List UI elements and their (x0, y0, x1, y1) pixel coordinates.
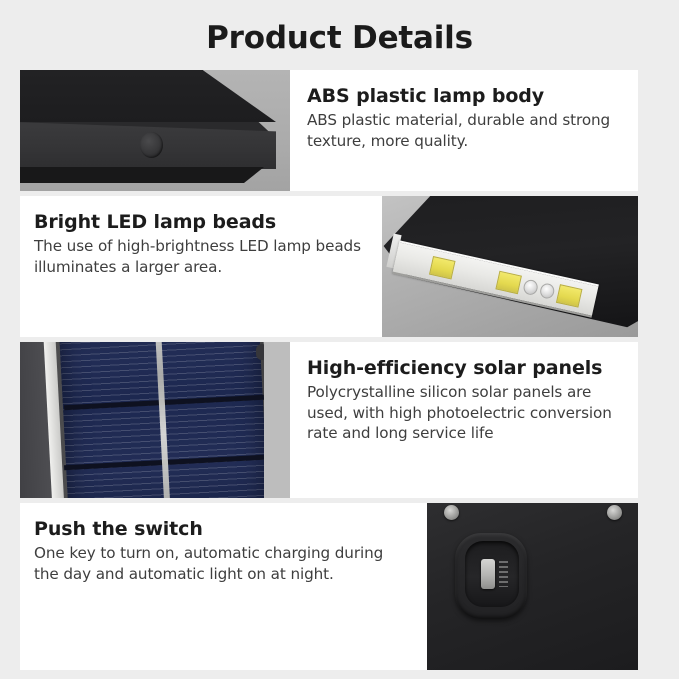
feature-text-high-efficiency-solar-panels: High-efficiency solar panels Polycrystal… (290, 342, 638, 498)
led-chip-icon (429, 256, 456, 280)
feature-description: ABS plastic material, durable and strong… (307, 110, 622, 151)
feature-text-push-the-switch: Push the switch One key to turn on, auto… (20, 503, 427, 670)
push-switch-photo (427, 503, 638, 670)
feature-title: ABS plastic lamp body (307, 84, 622, 109)
product-details-page: Product Details ABS plastic lamp body AB… (0, 0, 679, 679)
solar-panel-photo (20, 342, 290, 498)
feature-row-bright-led-lamp-beads: Bright LED lamp beads The use of high-br… (20, 196, 638, 337)
solar-photo-background (264, 342, 290, 498)
led-chip-icon (495, 271, 522, 295)
feature-description: The use of high-brightness LED lamp bead… (34, 236, 366, 277)
lamp-body-photo (20, 70, 290, 191)
push-switch-image (427, 503, 638, 670)
feature-text-abs-plastic-lamp-body: ABS plastic lamp body ABS plastic materi… (290, 70, 638, 191)
feature-row-abs-plastic-lamp-body: ABS plastic lamp body ABS plastic materi… (20, 70, 638, 191)
feature-text-bright-led-lamp-beads: Bright LED lamp beads The use of high-br… (20, 196, 382, 337)
page-title: Product Details (0, 18, 679, 58)
feature-row-high-efficiency-solar-panels: High-efficiency solar panels Polycrystal… (20, 342, 638, 498)
screw-hole-icon (140, 132, 163, 158)
power-switch-toggle (481, 559, 495, 589)
led-beads-image (382, 196, 638, 337)
lamp-body-base (20, 167, 264, 183)
feature-description: One key to turn on, automatic charging d… (34, 543, 411, 584)
screw-hole-icon (444, 505, 459, 520)
sensor-dot-icon (522, 279, 539, 297)
screw-hole-icon (607, 505, 622, 520)
led-chip-icon (556, 284, 583, 308)
sensor-dot-icon (539, 282, 556, 300)
feature-description: Polycrystalline silicon solar panels are… (307, 382, 622, 444)
switch-marking (499, 561, 508, 587)
solar-panel-image (20, 342, 290, 498)
lamp-body-top-face (20, 70, 276, 122)
feature-title: Push the switch (34, 517, 411, 542)
led-beads-photo (382, 196, 638, 337)
feature-title: High-efficiency solar panels (307, 356, 622, 381)
feature-title: Bright LED lamp beads (34, 210, 366, 235)
lamp-body-image (20, 70, 290, 191)
feature-row-push-the-switch: Push the switch One key to turn on, auto… (20, 503, 638, 670)
